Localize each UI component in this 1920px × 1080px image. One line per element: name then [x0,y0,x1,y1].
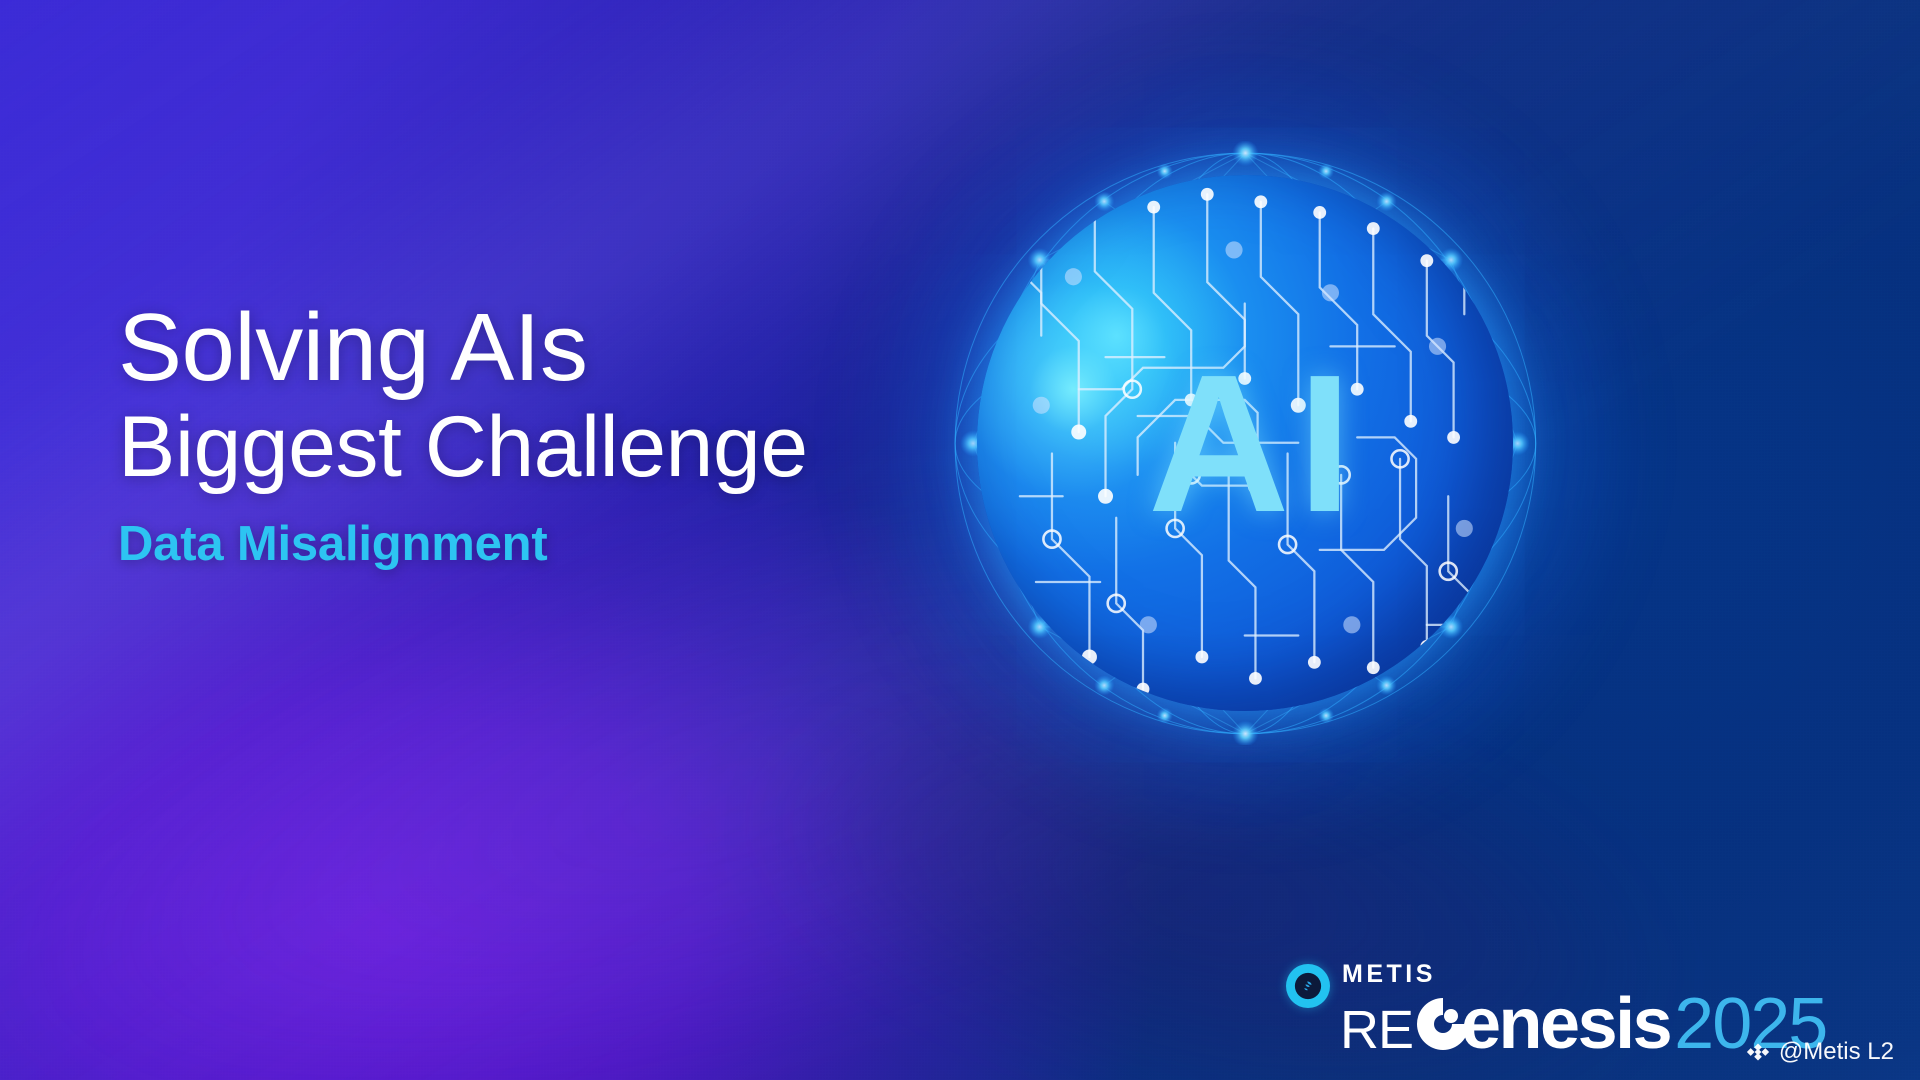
ai-label: AI [977,175,1513,711]
headline-block: Solving AIs Biggest Challenge Data Misal… [118,300,1018,572]
headline-line-1: Solving AIs [118,300,1018,396]
genesis-g-mark-icon [1415,996,1471,1052]
globe-core: AI [977,175,1513,711]
subheadline: Data Misalignment [118,516,1018,572]
ai-globe: AI [930,128,1560,758]
binance-diamond-icon [1745,1041,1771,1063]
genesis-text: enesis [1461,988,1670,1060]
headline-line-2: Biggest Challenge [118,404,1018,490]
watermark: @Metis L2 [1745,1038,1894,1066]
metis-head-icon [1286,964,1330,1008]
slide-canvas: AI Solving AIs Biggest Challenge Data Mi… [0,0,1920,1080]
watermark-handle: @Metis L2 [1779,1038,1894,1066]
re-text: RE [1340,1003,1413,1057]
